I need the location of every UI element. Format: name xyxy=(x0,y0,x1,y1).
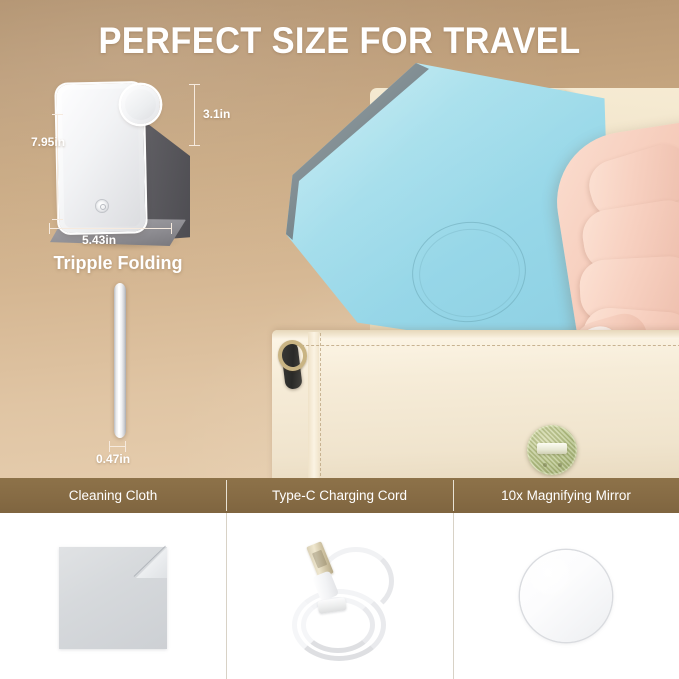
accessory-label-charging-cord: Type-C Charging Cord xyxy=(226,478,453,513)
accessory-item-cleaning-cloth xyxy=(0,513,226,679)
product-feature-image: PERFECT SIZE FOR TRAVEL xyxy=(0,0,679,679)
magnifier-circle-icon xyxy=(121,85,160,124)
accessory-label-text: Type-C Charging Cord xyxy=(272,488,407,503)
clasp-rivet-right xyxy=(558,463,562,467)
dimension-line-thickness xyxy=(110,446,126,447)
dimension-tick-submirror-bottom xyxy=(189,145,200,146)
accessory-label-cleaning-cloth: Cleaning Cloth xyxy=(0,478,226,513)
handbag-top-edge xyxy=(272,330,679,339)
diagram-caption-folding: Tripple Folding xyxy=(28,253,208,274)
dimension-tick-thickness-left xyxy=(109,441,110,452)
dimension-line-width xyxy=(50,228,172,229)
dimension-line-height xyxy=(57,115,58,220)
handbag-stitching-horizontal xyxy=(286,345,679,346)
accessory-label-bar: Cleaning Cloth Type-C Charging Cord 10x … xyxy=(0,478,679,513)
clasp-lower-bar-detail xyxy=(537,443,567,454)
accessory-item-charging-cord xyxy=(226,513,453,679)
dimension-tick-thickness-right xyxy=(125,441,126,452)
hero-section: PERFECT SIZE FOR TRAVEL xyxy=(0,0,679,478)
dimension-label-width: 5.43in xyxy=(82,233,116,247)
handbag-side-panel xyxy=(308,332,319,478)
accessory-label-text: Cleaning Cloth xyxy=(69,488,158,503)
accessory-items-row xyxy=(0,513,679,679)
thickness-diagram xyxy=(96,283,156,458)
clasp-rivet-left xyxy=(543,463,547,467)
mirror-side-profile xyxy=(114,283,126,438)
handbag-front-panel xyxy=(272,330,679,478)
cleaning-cloth-fold-line xyxy=(136,547,167,578)
touch-sensor-icon xyxy=(96,200,108,212)
accessory-label-magnifying-mirror: 10x Magnifying Mirror xyxy=(453,478,679,513)
dimension-tick-height-top xyxy=(52,114,63,115)
cleaning-cloth-icon xyxy=(59,547,167,649)
dimension-tick-height-bottom xyxy=(52,219,63,220)
dimension-tick-width-left xyxy=(49,223,50,234)
accessory-item-magnifying-mirror xyxy=(453,513,679,679)
dimension-label-submirror: 3.1in xyxy=(203,107,230,121)
usb-cable-icon xyxy=(274,533,406,659)
dimension-label-thickness: 0.47in xyxy=(96,452,130,466)
magnifying-mirror-icon xyxy=(520,550,612,642)
handbag-clasp-lower-icon xyxy=(527,425,577,475)
accessory-label-text: 10x Magnifying Mirror xyxy=(501,488,631,503)
dimension-tick-submirror-top xyxy=(189,84,200,85)
dimension-tick-width-right xyxy=(171,223,172,234)
dimension-line-submirror xyxy=(194,85,195,146)
dimension-label-height: 7.95in xyxy=(31,135,65,149)
handbag-stitching-vertical xyxy=(320,333,321,478)
